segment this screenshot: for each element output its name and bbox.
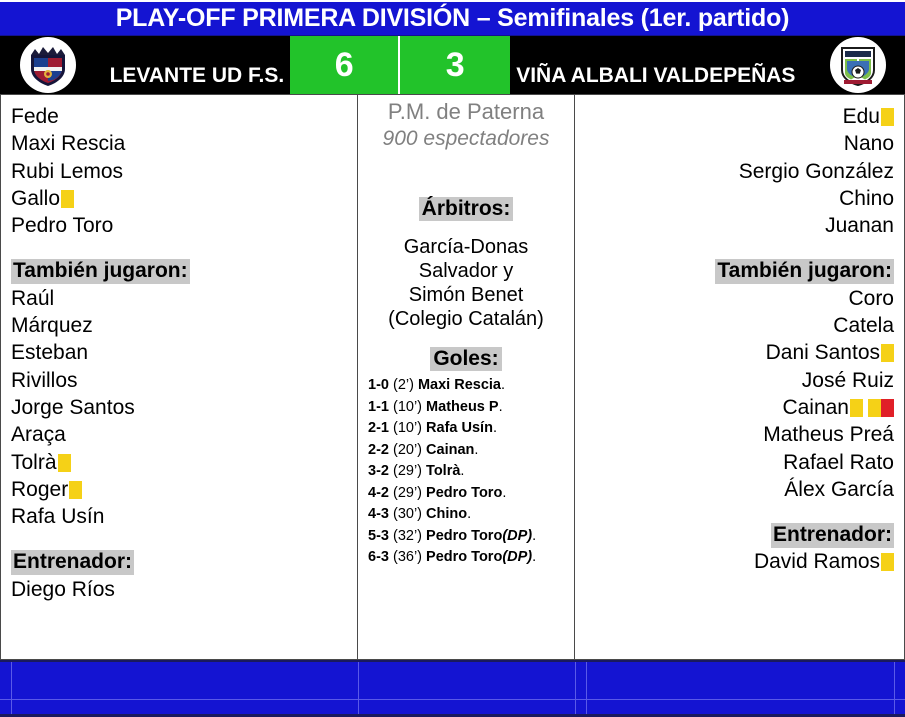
band-h-divider xyxy=(0,699,905,700)
spacer xyxy=(362,221,570,235)
player-row: Márquez xyxy=(11,312,347,339)
title-bar: PLAY-OFF PRIMERA DIVISIÓN – Semifinales … xyxy=(0,0,905,36)
player-row: Matheus Preá xyxy=(585,421,894,448)
spacer xyxy=(11,530,347,548)
band-v-divider xyxy=(575,662,576,714)
yellow-card-icon xyxy=(881,108,894,126)
home-starters-list: FedeMaxi ResciaRubi LemosGalloPedro Toro xyxy=(11,103,347,239)
venue-label: P.M. de Paterna xyxy=(362,99,570,126)
away-crest-cell xyxy=(810,36,905,94)
goal-terminator: . xyxy=(532,549,536,565)
home-lineup: FedeMaxi ResciaRubi LemosGalloPedro Toro… xyxy=(1,95,357,603)
goal-scorer: Pedro Toro xyxy=(426,485,502,501)
away-score: 3 xyxy=(400,36,510,94)
yellow-card-icon xyxy=(868,399,881,417)
goal-terminator: . xyxy=(501,377,505,393)
player-name: Maxi Rescia xyxy=(11,132,125,155)
referees-list: García-DonasSalvador ySimón Benet(Colegi… xyxy=(362,235,570,331)
referee-line: Salvador y xyxy=(362,259,570,283)
player-row: Pedro Toro xyxy=(11,212,347,239)
band-v-divider xyxy=(358,662,359,714)
match-info-inner: P.M. de Paterna 900 espectadores Árbitro… xyxy=(358,95,574,569)
player-name: Diego Ríos xyxy=(11,578,115,601)
player-row: Dani Santos xyxy=(585,339,894,366)
player-name: Jorge Santos xyxy=(11,396,135,419)
goal-row: 2-1 (10’) Rafa Usín. xyxy=(368,418,570,439)
goal-minute: (2’) xyxy=(389,377,418,393)
home-score: 6 xyxy=(290,36,400,94)
goal-scorer: Cainan xyxy=(426,442,474,458)
yellow-card-icon xyxy=(881,553,894,571)
goal-scorer: Chino xyxy=(426,506,467,522)
goal-terminator: . xyxy=(499,399,503,415)
goal-note: (DP) xyxy=(502,528,532,544)
goal-scorer: Pedro Toro xyxy=(426,549,502,565)
yellow-card-icon xyxy=(58,454,71,472)
player-row: Edu xyxy=(585,103,894,130)
goal-minute: (29’) xyxy=(389,463,426,479)
player-name: Dani Santos xyxy=(766,341,880,364)
goal-row: 6-3 (36’) Pedro Toro(DP). xyxy=(368,547,570,568)
spacer xyxy=(585,239,894,257)
goal-scorer: Rafa Usín xyxy=(426,420,493,436)
band-v-divider xyxy=(894,662,895,714)
goal-row: 1-0 (2’) Maxi Rescia. xyxy=(368,375,570,396)
home-team-name: LEVANTE UD F.S. xyxy=(95,36,290,94)
away-subs-heading: También jugaron: xyxy=(715,259,894,284)
goal-row: 4-3 (30’) Chino. xyxy=(368,504,570,525)
player-row: Coro xyxy=(585,285,894,312)
player-name: Raúl xyxy=(11,287,54,310)
player-name: Márquez xyxy=(11,314,93,337)
player-row: David Ramos xyxy=(585,548,894,575)
goal-terminator: . xyxy=(474,442,478,458)
goal-scorer: Pedro Toro xyxy=(426,528,502,544)
home-coach-heading: Entrenador: xyxy=(11,550,134,575)
player-name: Gallo xyxy=(11,187,60,210)
spacer xyxy=(11,239,347,257)
away-lineup: EduNanoSergio GonzálezChinoJuanan Tambié… xyxy=(575,95,904,576)
player-row: Chino xyxy=(585,185,894,212)
attendance-label: 900 espectadores xyxy=(362,126,570,152)
goal-row: 1-1 (10’) Matheus P. xyxy=(368,397,570,418)
goal-minute: (29’) xyxy=(389,485,426,501)
goal-score: 1-1 xyxy=(368,399,389,415)
player-row: Nano xyxy=(585,130,894,157)
goal-row: 2-2 (20’) Cainan. xyxy=(368,440,570,461)
goal-scorer: Maxi Rescia xyxy=(418,377,501,393)
match-summary-graphic: PLAY-OFF PRIMERA DIVISIÓN – Semifinales … xyxy=(0,0,905,717)
home-crest-cell xyxy=(0,36,95,94)
player-name: Rafa Usín xyxy=(11,505,104,528)
bottom-blue-band xyxy=(0,660,905,717)
player-name: Matheus Preá xyxy=(763,423,894,446)
yellow-card-icon xyxy=(69,481,82,499)
player-row: Roger xyxy=(11,476,347,503)
goal-score: 2-1 xyxy=(368,420,389,436)
spacer xyxy=(362,331,570,347)
home-team-panel: FedeMaxi ResciaRubi LemosGalloPedro Toro… xyxy=(0,94,357,660)
referees-heading: Árbitros: xyxy=(419,197,514,221)
player-row: Juanan xyxy=(585,212,894,239)
player-row: Maxi Rescia xyxy=(11,130,347,157)
player-row: Rafa Usín xyxy=(11,503,347,530)
player-name: Rivillos xyxy=(11,369,78,392)
spacer xyxy=(362,151,570,197)
goal-terminator: . xyxy=(532,528,536,544)
player-name: Juanan xyxy=(825,214,894,237)
player-name: David Ramos xyxy=(754,550,880,573)
player-row: José Ruiz xyxy=(585,367,894,394)
goal-minute: (32’) xyxy=(389,528,426,544)
goals-heading: Goles: xyxy=(430,347,501,371)
body-panels: FedeMaxi ResciaRubi LemosGalloPedro Toro… xyxy=(0,94,905,660)
goal-row: 5-3 (32’) Pedro Toro(DP). xyxy=(368,526,570,547)
player-name: Cainan xyxy=(782,396,849,419)
player-row: Sergio González xyxy=(585,158,894,185)
player-name: Fede xyxy=(11,105,59,128)
player-name: Rafael Rato xyxy=(783,451,894,474)
player-name: Nano xyxy=(844,132,894,155)
player-name: Sergio González xyxy=(739,160,894,183)
player-row: Álex García xyxy=(585,476,894,503)
levante-crest-icon xyxy=(20,37,76,93)
goal-minute: (20’) xyxy=(389,442,426,458)
player-row: Rafael Rato xyxy=(585,449,894,476)
goal-minute: (30’) xyxy=(389,506,426,522)
away-coach-heading: Entrenador: xyxy=(771,523,894,548)
player-name: Araça xyxy=(11,423,66,446)
away-coach: David Ramos xyxy=(585,548,894,575)
player-name: Edu xyxy=(843,105,880,128)
spacer xyxy=(585,503,894,521)
player-name: Rubi Lemos xyxy=(11,160,123,183)
goal-terminator: . xyxy=(502,485,506,501)
player-row: Esteban xyxy=(11,339,347,366)
player-name: Pedro Toro xyxy=(11,214,113,237)
player-row: Gallo xyxy=(11,185,347,212)
goal-scorer: Tolrà xyxy=(426,463,460,479)
player-row: Catela xyxy=(585,312,894,339)
goal-score: 5-3 xyxy=(368,528,389,544)
goal-score: 6-3 xyxy=(368,549,389,565)
red-card-icon xyxy=(881,399,894,417)
referee-line: (Colegio Catalán) xyxy=(362,307,570,331)
yellow-card-icon xyxy=(881,344,894,362)
goal-note: (DP) xyxy=(502,549,532,565)
goal-score: 3-2 xyxy=(368,463,389,479)
home-subs-list: RaúlMárquezEstebanRivillosJorge SantosAr… xyxy=(11,285,347,531)
player-name: Roger xyxy=(11,478,68,501)
goal-row: 4-2 (29’) Pedro Toro. xyxy=(368,483,570,504)
page-title: PLAY-OFF PRIMERA DIVISIÓN – Semifinales … xyxy=(116,6,790,31)
player-row: Tolrà xyxy=(11,449,347,476)
player-name: Álex García xyxy=(784,478,894,501)
player-name: Catela xyxy=(833,314,894,337)
player-row: Fede xyxy=(11,103,347,130)
goals-list: 1-0 (2’) Maxi Rescia.1-1 (10’) Matheus P… xyxy=(362,375,570,568)
goal-score: 1-0 xyxy=(368,377,389,393)
player-name: Esteban xyxy=(11,341,88,364)
player-name: Coro xyxy=(848,287,894,310)
goal-score: 2-2 xyxy=(368,442,389,458)
match-info-panel: P.M. de Paterna 900 espectadores Árbitro… xyxy=(357,94,575,660)
goal-minute: (10’) xyxy=(389,399,426,415)
home-subs-heading: También jugaron: xyxy=(11,259,190,284)
player-row: Diego Ríos xyxy=(11,576,347,603)
scoreline-header: LEVANTE UD F.S. 6 3 VIÑA ALBALI VALDEPEÑ… xyxy=(0,36,905,94)
player-row: Araça xyxy=(11,421,347,448)
referee-line: García-Donas xyxy=(362,235,570,259)
goal-terminator: . xyxy=(460,463,464,479)
valdepenas-crest-icon xyxy=(830,37,886,93)
referee-line: Simón Benet xyxy=(362,283,570,307)
goal-terminator: . xyxy=(467,506,471,522)
player-row: Jorge Santos xyxy=(11,394,347,421)
player-name: Tolrà xyxy=(11,451,57,474)
player-name: Chino xyxy=(839,187,894,210)
goal-minute: (36’) xyxy=(389,549,426,565)
goal-score: 4-3 xyxy=(368,506,389,522)
away-team-panel: EduNanoSergio GonzálezChinoJuanan Tambié… xyxy=(575,94,905,660)
yellow-card-icon xyxy=(61,190,74,208)
player-row: Raúl xyxy=(11,285,347,312)
player-row: Rubi Lemos xyxy=(11,158,347,185)
home-coach: Diego Ríos xyxy=(11,576,347,603)
goal-score: 4-2 xyxy=(368,485,389,501)
goal-minute: (10’) xyxy=(389,420,426,436)
band-v-divider xyxy=(11,662,12,714)
away-subs-list: CoroCatelaDani SantosJosé RuizCainanMath… xyxy=(585,285,894,503)
yellow-card-icon xyxy=(850,399,863,417)
player-row: Cainan xyxy=(585,394,894,421)
goal-terminator: . xyxy=(493,420,497,436)
goal-row: 3-2 (29’) Tolrà. xyxy=(368,461,570,482)
player-name: José Ruiz xyxy=(802,369,894,392)
goal-scorer: Matheus P xyxy=(426,399,499,415)
band-v-divider xyxy=(586,662,587,714)
player-row: Rivillos xyxy=(11,367,347,394)
away-starters-list: EduNanoSergio GonzálezChinoJuanan xyxy=(585,103,894,239)
away-team-name: VIÑA ALBALI VALDEPEÑAS xyxy=(510,36,810,94)
